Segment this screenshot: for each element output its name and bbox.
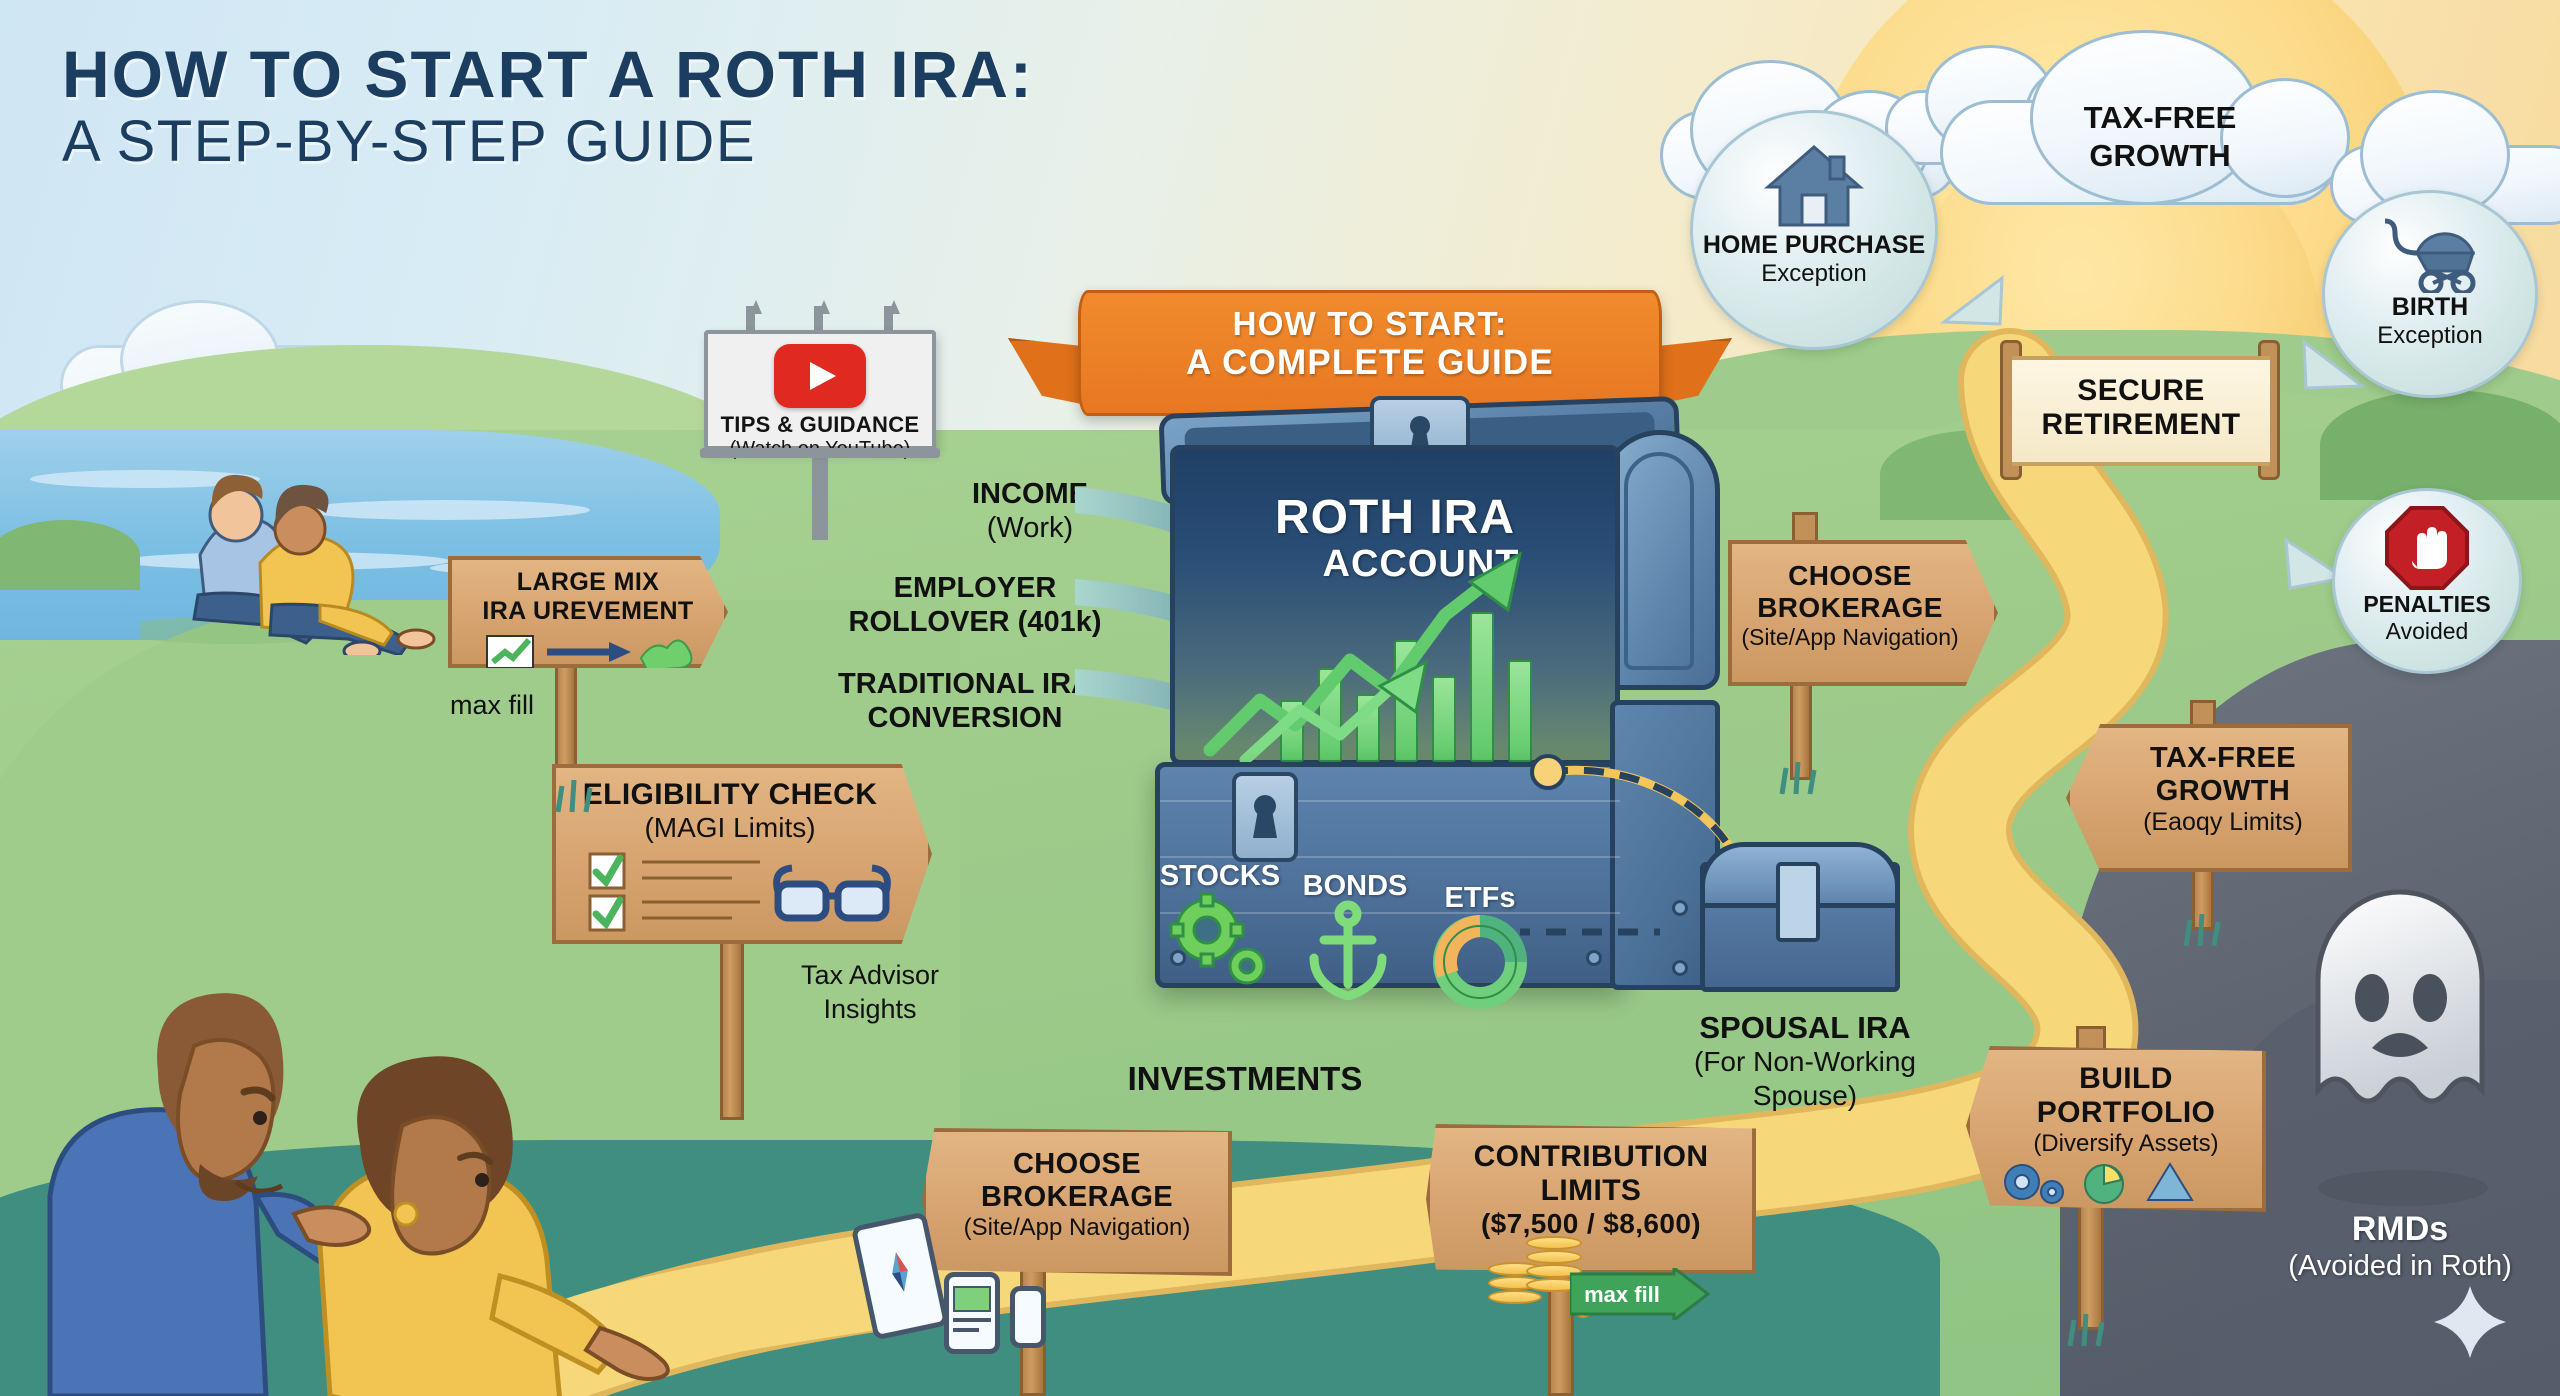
youtube-play-icon: [774, 344, 866, 408]
secure-retirement-banner[interactable]: SECURE RETIREMENT: [2012, 356, 2270, 466]
phone-line-2: [953, 1328, 979, 1332]
sparkle-icon: [2430, 1282, 2510, 1362]
large-mix-caption: max fill: [450, 690, 620, 721]
phone-icon-large: [944, 1272, 1000, 1354]
eligibility-sign-post: [720, 930, 744, 1120]
grass-tuft-2: [2060, 1312, 2120, 1348]
spousal-sub-line1: (For Non-Working: [1650, 1046, 1960, 1078]
coin-stack-b2: [1526, 1250, 1582, 1264]
grass-tuft-3: [2176, 912, 2236, 948]
brokerage-right-line1: CHOOSE: [1732, 560, 1994, 592]
build-portfolio-sub: (Diversify Assets): [1970, 1130, 2262, 1158]
build-portfolio-line2: PORTFOLIO: [1970, 1096, 2262, 1130]
grass-tuft-4: [548, 778, 608, 814]
home-purchase-bubble[interactable]: HOME PURCHASE Exception: [1690, 110, 1938, 350]
phone-screen-green: [953, 1286, 991, 1312]
secure-retirement-line2: RETIREMENT: [2012, 408, 2270, 442]
ghost-icon: [2290, 880, 2520, 1170]
billboard-base: [700, 448, 940, 458]
tax-free-growth-line2: GROWTH: [2070, 775, 2348, 808]
investments-label: INVESTMENTS: [1080, 1060, 1410, 1098]
foreground-couple: [30, 896, 730, 1396]
investment-etfs-label: ETFs: [1425, 882, 1535, 915]
banner-line2: A COMPLETE GUIDE: [1081, 343, 1659, 383]
coin-stack-a3: [1488, 1290, 1542, 1304]
birth-bubble[interactable]: BIRTH Exception: [2322, 190, 2538, 398]
penalties-bubble[interactable]: PENALTIES Avoided: [2332, 488, 2522, 674]
eligibility-sign[interactable]: ELIGIBILITY CHECK (MAGI Limits): [552, 764, 932, 944]
page-subtitle: A STEP-BY-STEP GUIDE: [62, 108, 756, 175]
contribution-sign[interactable]: CONTRIBUTION LIMITS ($7,500 / $8,600): [1426, 1124, 1756, 1274]
contribution-sub: ($7,500 / $8,600): [1430, 1208, 1752, 1240]
rmds-title: RMDs: [2300, 1210, 2500, 1249]
penalties-sub: Avoided: [2335, 618, 2519, 645]
large-mix-title-line2: IRA UREVEMENT: [452, 597, 724, 626]
banner-line1: HOW TO START:: [1081, 305, 1659, 343]
rmds-sub: (Avoided in Roth): [2250, 1250, 2550, 1283]
phone-icon-small: [1010, 1286, 1046, 1348]
home-purchase-title: HOME PURCHASE: [1693, 231, 1935, 260]
ghost-shadow: [2318, 1170, 2488, 1206]
spousal-sub-line2: Spouse): [1650, 1080, 1960, 1112]
gears-icon: [1165, 892, 1275, 992]
contribution-line1: CONTRIBUTION: [1430, 1140, 1752, 1174]
compass-icon: [872, 1244, 929, 1301]
brokerage-right-sign[interactable]: CHOOSE BROKERAGE (Site/App Navigation): [1728, 540, 1998, 686]
couple-by-lake: [140, 455, 480, 655]
home-bubble-tail: [1936, 272, 2006, 332]
billboard-title: TIPS & GUIDANCE: [708, 412, 932, 438]
spousal-title: SPOUSAL IRA: [1660, 1010, 1950, 1046]
tax-advisor-caption-line1: Tax Advisor: [760, 960, 980, 991]
brokerage-bottom-sign[interactable]: CHOOSE BROKERAGE (Site/App Navigation): [922, 1128, 1232, 1276]
tax-free-growth-sub: (Eaoqy Limits): [2070, 808, 2348, 837]
build-portfolio-sign[interactable]: BUILD PORTFOLIO (Diversify Assets): [1966, 1046, 2266, 1212]
stop-hand-icon: [2384, 505, 2470, 591]
secure-retirement-line1: SECURE: [2012, 374, 2270, 408]
large-mix-title-line1: LARGE MIX: [452, 568, 724, 597]
brokerage-bottom-line2: BROKERAGE: [926, 1181, 1228, 1214]
brokerage-bottom-line1: CHOOSE: [926, 1148, 1228, 1181]
coin-stack-b1: [1526, 1236, 1582, 1250]
banner-body: HOW TO START: A COMPLETE GUIDE: [1078, 290, 1662, 416]
investment-bonds-label: BONDS: [1290, 870, 1420, 903]
tax-free-growth-sign[interactable]: TAX-FREE GROWTH (Eaoqy Limits): [2066, 724, 2352, 872]
penalties-title: PENALTIES: [2335, 591, 2519, 618]
max-fill-arrow: max fill: [1570, 1268, 1710, 1320]
build-portfolio-line1: BUILD: [1970, 1062, 2262, 1096]
home-purchase-sub: Exception: [1693, 260, 1935, 288]
house-icon: [1764, 143, 1864, 229]
stroller-icon: [2381, 213, 2479, 293]
chest-front-keyhole-icon: [1245, 790, 1285, 842]
spousal-chest-band: [1776, 862, 1820, 942]
billboard-mast-tips: [740, 296, 910, 326]
anchor-icon: [1300, 900, 1396, 1000]
page-title: HOW TO START A ROTH IRA:: [62, 36, 1034, 112]
investment-stocks-label: STOCKS: [1155, 860, 1285, 893]
tax-free-growth-line1: TAX-FREE: [2070, 742, 2348, 775]
eligibility-sub: (MAGI Limits): [556, 812, 928, 844]
grass-tuft-1: [1772, 760, 1832, 796]
eligibility-title: ELIGIBILITY CHECK: [556, 778, 928, 812]
infographic-canvas: TAX-FREE GROWTH HOW TO START A ROTH IRA:…: [0, 0, 2560, 1396]
portfolio-icons: [1994, 1158, 2274, 1204]
eligibility-checklist-icon: [556, 844, 916, 936]
chart-arrow-icon: [483, 632, 693, 670]
contribution-line2: LIMITS: [1430, 1174, 1752, 1208]
chest-rivet-side2: [1672, 960, 1688, 976]
glasses-icon: [777, 868, 888, 918]
brokerage-bottom-sub: (Site/App Navigation): [926, 1214, 1228, 1242]
max-fill-label: max fill: [1584, 1282, 1660, 1307]
donut-chart-icon: [1430, 912, 1530, 1012]
tax-advisor-caption-line2: Insights: [760, 994, 980, 1025]
birth-title: BIRTH: [2325, 293, 2535, 322]
brokerage-right-line2: BROKERAGE: [1732, 592, 1994, 624]
birth-sub: Exception: [2325, 322, 2535, 350]
phone-line-1: [953, 1318, 991, 1322]
youtube-billboard[interactable]: TIPS & GUIDANCE (Watch on YouTube): [704, 330, 936, 450]
large-mix-sign[interactable]: LARGE MIX IRA UREVEMENT: [448, 556, 728, 668]
brokerage-right-sub: (Site/App Navigation): [1732, 624, 1994, 651]
